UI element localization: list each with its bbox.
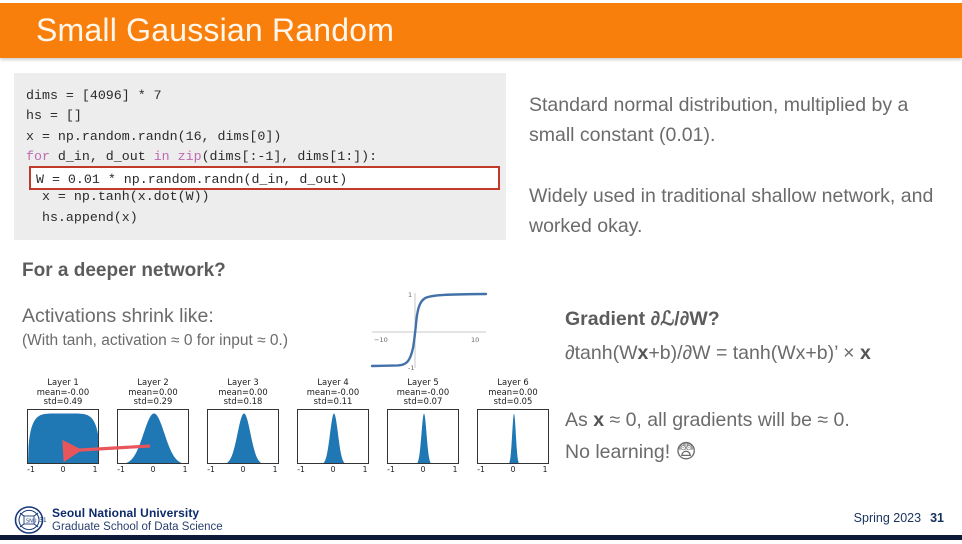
svg-text:SNU: SNU (26, 519, 37, 525)
histogram-panel-title: Layer 2 mean=0.00 std=0.29 (108, 378, 198, 407)
activation-histogram-strip: Layer 1 mean=-0.00 std=0.49-101Layer 2 m… (18, 378, 558, 483)
histogram-plot-area (477, 409, 549, 464)
histogram-plot-area (117, 409, 189, 464)
histogram-x-tick-label: 1 (363, 465, 368, 474)
histogram-x-ticks: -101 (117, 464, 189, 476)
gradient-eq-part1: ∂tanh(W (565, 342, 638, 364)
histogram-x-tick-label: -1 (297, 465, 305, 474)
footer-institution: Seoul National University Graduate Schoo… (52, 506, 223, 534)
tanh-plot-svg: −10 10 1 -1 (368, 280, 490, 372)
histogram-bars (388, 413, 459, 464)
code-lines-after: x = np.tanh(x.dot(W)) hs.append(x) (26, 189, 210, 224)
right-paragraph-2: Widely used in traditional shallow netwo… (529, 181, 949, 241)
activations-note: (With tanh, activation ≈ 0 for input ≈ 0… (22, 332, 288, 350)
code-keyword-for: for (26, 149, 50, 164)
histogram-bars (478, 413, 549, 464)
slide-canvas: Small Gaussian Random dims = [4096] * 7 … (0, 0, 962, 544)
code-highlight-box: W = 0.01 * np.random.randn(d_in, d_out) (29, 166, 500, 190)
histogram-x-tick-label: -1 (387, 465, 395, 474)
code-text: dims = [4096] * 7 hs = [] x = np.random.… (26, 86, 377, 228)
histogram-x-tick-label: -1 (477, 465, 485, 474)
histogram-plot-area (387, 409, 459, 464)
histogram-x-tick-label: 0 (241, 465, 246, 474)
tanh-ytick-bottom: -1 (408, 364, 414, 372)
footer-term: Spring 2023 (854, 511, 921, 525)
histogram-panel-layer-2: Layer 2 mean=0.00 std=0.29-101 (108, 378, 198, 483)
histogram-svg (478, 410, 549, 464)
histogram-x-tick-label: 0 (421, 465, 426, 474)
histogram-x-ticks: -101 (27, 464, 99, 476)
histogram-x-ticks: -101 (207, 464, 279, 476)
code-for-suffix: (dims[:-1], dims[1:]): (202, 149, 378, 164)
activations-shrink-label: Activations shrink like: (22, 305, 214, 328)
histogram-x-tick-label: 0 (331, 465, 336, 474)
code-block: dims = [4096] * 7 hs = [] x = np.random.… (14, 73, 506, 240)
footer-school-name: Graduate School of Data Science (52, 520, 223, 534)
histogram-svg (298, 410, 369, 464)
code-keyword-in: in (154, 149, 170, 164)
tanh-curve-plot: −10 10 1 -1 (368, 280, 490, 372)
right-paragraph-1: Standard normal distribution, multiplied… (529, 90, 949, 150)
footer-divider (0, 535, 962, 540)
gradient-eq-bold-x2: x (860, 342, 871, 364)
histogram-panel-layer-6: Layer 6 mean=0.00 std=0.05-101 (468, 378, 558, 483)
histogram-panel-title: Layer 3 mean=0.00 std=0.18 (198, 378, 288, 407)
conclusion-line2: No learning! (565, 441, 676, 463)
histogram-x-tick-label: 0 (61, 465, 66, 474)
footer-page-number: 31 (930, 511, 944, 525)
histogram-panel-layer-1: Layer 1 mean=-0.00 std=0.49-101 (18, 378, 108, 483)
snu-crest-logo: SNU 31 (14, 504, 48, 536)
histogram-svg (208, 410, 279, 464)
histogram-x-tick-label: 0 (511, 465, 516, 474)
histogram-x-ticks: -101 (297, 464, 369, 476)
deeper-network-heading: For a deeper network? (22, 260, 226, 282)
svg-text:31: 31 (39, 517, 47, 524)
histogram-bars (208, 413, 279, 464)
histogram-plot-area (297, 409, 369, 464)
histogram-x-ticks: -101 (477, 464, 549, 476)
tanh-curve-path (372, 294, 486, 366)
histogram-x-tick-label: 1 (273, 465, 278, 474)
page-title: Small Gaussian Random (36, 11, 394, 48)
histogram-x-tick-label: 0 (151, 465, 156, 474)
conclusion-text: As x ≈ 0, all gradients will be ≈ 0.No l… (565, 405, 955, 468)
code-keyword-zip: zip (170, 149, 202, 164)
histogram-x-ticks: -101 (387, 464, 459, 476)
histogram-panel-layer-5: Layer 5 mean=-0.00 std=0.07-101 (378, 378, 468, 483)
footer-meta: Spring 202331 (854, 511, 944, 525)
histogram-svg (118, 410, 189, 464)
histogram-bars (118, 413, 189, 464)
histogram-x-tick-label: 1 (453, 465, 458, 474)
histogram-panel-title: Layer 4 mean=-0.00 std=0.11 (288, 378, 378, 407)
histogram-bars (28, 413, 99, 464)
tanh-xtick-right: 10 (471, 336, 479, 344)
footer-university-name: Seoul National University (52, 506, 223, 520)
histogram-panel-layer-4: Layer 4 mean=-0.00 std=0.11-101 (288, 378, 378, 483)
gradient-heading: Gradient ∂ℒ/∂W? (565, 307, 720, 331)
gradient-eq-part2: +b)/∂W = tanh(Wx+b)’ × (648, 342, 860, 364)
histogram-x-tick-label: 1 (183, 465, 188, 474)
histogram-x-tick-label: 1 (543, 465, 548, 474)
histogram-x-tick-label: 1 (93, 465, 98, 474)
code-for-mid: d_in, d_out (50, 149, 154, 164)
conclusion-part2: ≈ 0, all gradients will be ≈ 0. (604, 409, 850, 431)
conclusion-bold-x: x (593, 409, 604, 431)
histogram-plot-area (207, 409, 279, 464)
histogram-x-tick-label: -1 (207, 465, 215, 474)
histogram-x-tick-label: -1 (27, 465, 35, 474)
code-highlighted-line: W = 0.01 * np.random.randn(d_in, d_out) (36, 170, 347, 190)
code-lines-before: dims = [4096] * 7 hs = [] x = np.random.… (26, 88, 281, 144)
tanh-ytick-top: 1 (408, 291, 412, 299)
gradient-eq-bold-x1: x (638, 342, 649, 364)
histogram-bars (298, 413, 369, 464)
conclusion-part1: As (565, 409, 593, 431)
gradient-equation: ∂tanh(Wx+b)/∂W = tanh(Wx+b)’ × x (565, 342, 871, 365)
slide-title-bar: Small Gaussian Random (0, 3, 962, 58)
tanh-xtick-left: −10 (374, 336, 388, 344)
histogram-panel-layer-3: Layer 3 mean=0.00 std=0.18-101 (198, 378, 288, 483)
histogram-panel-title: Layer 6 mean=0.00 std=0.05 (468, 378, 558, 407)
histogram-panel-title: Layer 1 mean=-0.00 std=0.49 (18, 378, 108, 407)
fearful-face-emoji: 😨 (676, 439, 697, 463)
histogram-x-tick-label: -1 (117, 465, 125, 474)
histogram-plot-area (27, 409, 99, 464)
histogram-svg (28, 410, 99, 464)
histogram-svg (388, 410, 459, 464)
histogram-panel-title: Layer 5 mean=-0.00 std=0.07 (378, 378, 468, 407)
